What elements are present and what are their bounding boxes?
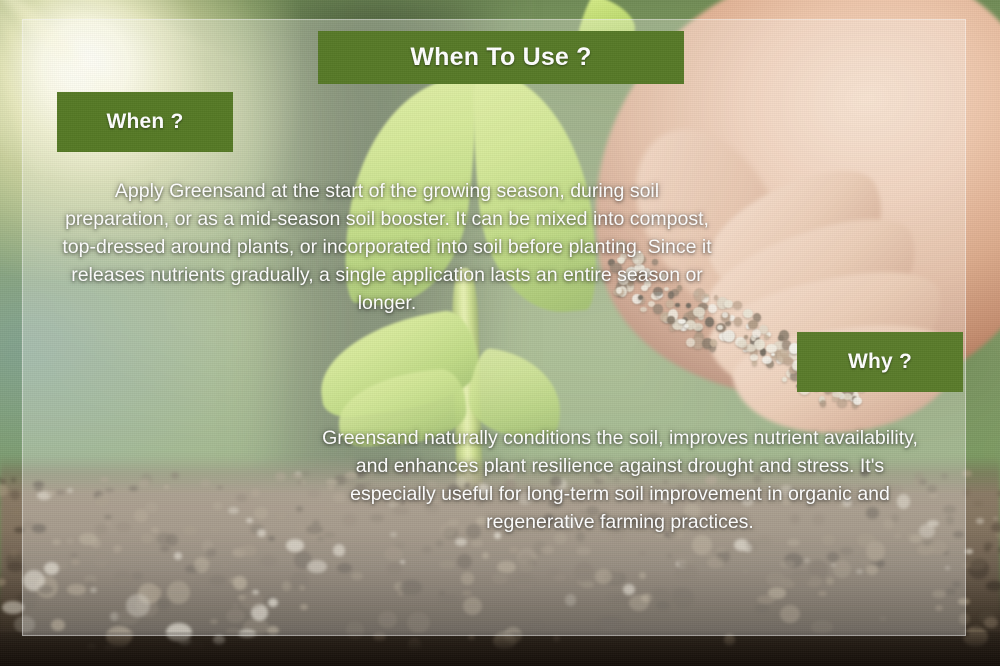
soil-clod	[0, 578, 6, 586]
soil-clod	[10, 490, 20, 500]
section-label-why-text: Why ?	[848, 350, 912, 374]
soil-clod	[984, 546, 990, 552]
soil-clod	[0, 484, 8, 495]
soil-clod	[966, 558, 985, 570]
soil-clod	[993, 517, 998, 520]
soil-clod	[973, 501, 983, 506]
section-label-when-text: When ?	[106, 110, 183, 134]
soil-clod	[986, 581, 1000, 591]
soil-shadow-strip	[0, 632, 1000, 666]
page-title: When To Use ?	[410, 43, 591, 72]
soil-clod	[976, 518, 985, 524]
section-label-why: Why ?	[797, 332, 963, 392]
soil-clod	[984, 617, 998, 628]
soil-clod	[0, 479, 6, 484]
section-body-when: Apply Greensand at the start of the grow…	[62, 177, 712, 317]
soil-clod	[2, 601, 24, 615]
section-label-when: When ?	[57, 92, 233, 152]
soil-clod	[11, 477, 17, 483]
soil-clod	[965, 549, 973, 554]
section-body-why: Greensand naturally conditions the soil,…	[316, 424, 924, 536]
infographic-root: When To Use ? When ? Why ? Apply Greensa…	[0, 0, 1000, 666]
soil-clod	[974, 624, 981, 628]
soil-clod	[12, 509, 22, 516]
soil-clod	[10, 549, 18, 557]
soil-clod	[991, 524, 1000, 532]
header-title-banner: When To Use ?	[318, 31, 684, 84]
